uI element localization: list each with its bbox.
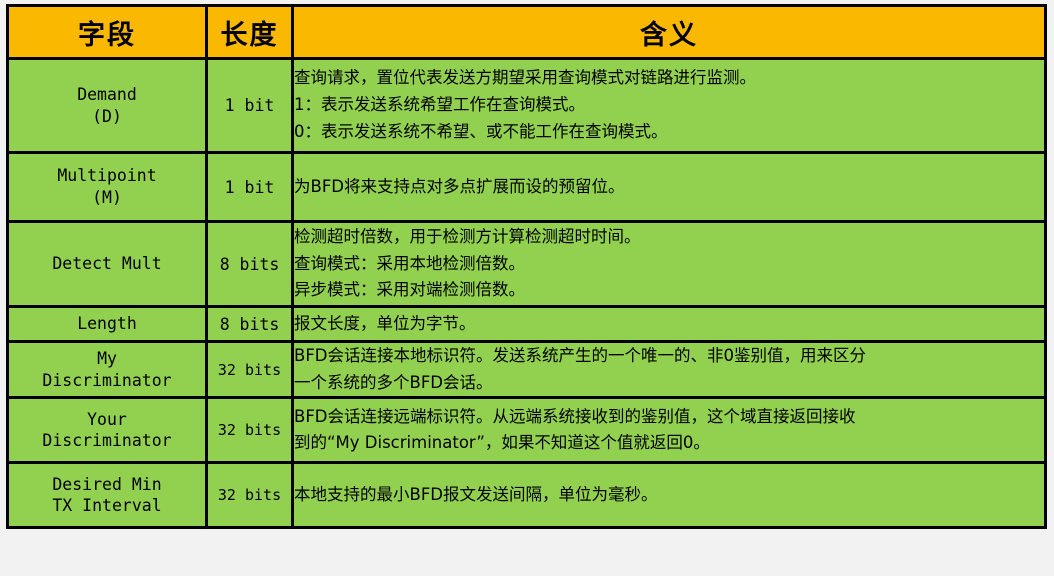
- field-length-cell: 32 bits: [207, 463, 293, 528]
- field-name-line-2: (D): [9, 106, 205, 128]
- field-name-line-1: Length: [9, 313, 205, 335]
- table-row: My Discriminator 32 bits BFD会话连接本地标识符。发送…: [8, 342, 1046, 398]
- field-name-cell: Detect Mult: [8, 222, 207, 307]
- meaning-line: BFD会话连接本地标识符。发送系统产生的一个唯一的、非0鉴别值，用来区分: [294, 343, 1044, 370]
- field-name-line-2: Discriminator: [9, 370, 205, 392]
- field-meaning-cell: 为BFD将来支持点对多点扩展而设的预留位。: [293, 153, 1046, 222]
- meaning-line: 查询模式：采用本地检测倍数。: [294, 251, 1044, 278]
- field-name-cell: Desired Min TX Interval: [8, 463, 207, 528]
- table-row: Multipoint (M) 1 bit 为BFD将来支持点对多点扩展而设的预留…: [8, 153, 1046, 222]
- bfd-field-table: 字段 长度 含义 Demand (D) 1 bit 查询请求，置位代表发送方期望…: [6, 4, 1047, 529]
- field-name-line-1: Detect Mult: [9, 253, 205, 275]
- field-name-line-1: Your: [9, 409, 205, 431]
- field-length-cell: 1 bit: [207, 153, 293, 222]
- field-length-cell: 8 bits: [207, 222, 293, 307]
- field-meaning-cell: 检测超时倍数，用于检测方计算检测超时时间。 查询模式：采用本地检测倍数。 异步模…: [293, 222, 1046, 307]
- meaning-line: 1：表示发送系统希望工作在查询模式。: [294, 92, 1044, 119]
- meaning-line: 为BFD将来支持点对多点扩展而设的预留位。: [294, 174, 1044, 201]
- field-name-cell: Your Discriminator: [8, 398, 207, 463]
- field-meaning-cell: BFD会话连接本地标识符。发送系统产生的一个唯一的、非0鉴别值，用来区分 一个系…: [293, 342, 1046, 398]
- meaning-line: 报文长度，单位为字节。: [294, 311, 1044, 338]
- field-meaning-cell: 查询请求，置位代表发送方期望采用查询模式对链路进行监测。 1：表示发送系统希望工…: [293, 59, 1046, 153]
- field-meaning-cell: 报文长度，单位为字节。: [293, 307, 1046, 342]
- field-length-cell: 8 bits: [207, 307, 293, 342]
- field-name-cell: Demand (D): [8, 59, 207, 153]
- bfd-field-table-container: 字段 长度 含义 Demand (D) 1 bit 查询请求，置位代表发送方期望…: [6, 4, 1044, 529]
- field-length-cell: 32 bits: [207, 398, 293, 463]
- field-meaning-cell: BFD会话连接远端标识符。从远端系统接收到的鉴别值，这个域直接返回接收 到的“M…: [293, 398, 1046, 463]
- table-row: Demand (D) 1 bit 查询请求，置位代表发送方期望采用查询模式对链路…: [8, 59, 1046, 153]
- field-name-cell: My Discriminator: [8, 342, 207, 398]
- field-name-cell: Multipoint (M): [8, 153, 207, 222]
- field-name-line-2: TX Interval: [9, 495, 205, 517]
- meaning-line: 本地支持的最小BFD报文发送间隔，单位为毫秒。: [294, 482, 1044, 509]
- field-name-line-1: Desired Min: [9, 474, 205, 496]
- field-name-line-2: (M): [9, 187, 205, 209]
- meaning-line: 0：表示发送系统不希望、或不能工作在查询模式。: [294, 119, 1044, 146]
- column-header-field: 字段: [8, 6, 207, 59]
- meaning-line: 异步模式：采用对端检测倍数。: [294, 277, 1044, 304]
- field-name-cell: Length: [8, 307, 207, 342]
- field-name-line-1: Demand: [9, 84, 205, 106]
- column-header-meaning: 含义: [293, 6, 1046, 59]
- meaning-line: 一个系统的多个BFD会话。: [294, 370, 1044, 397]
- field-length-cell: 32 bits: [207, 342, 293, 398]
- field-meaning-cell: 本地支持的最小BFD报文发送间隔，单位为毫秒。: [293, 463, 1046, 528]
- table-body: Demand (D) 1 bit 查询请求，置位代表发送方期望采用查询模式对链路…: [8, 59, 1046, 528]
- field-name-line-1: Multipoint: [9, 165, 205, 187]
- meaning-line: 到的“My Discriminator”，如果不知道这个值就返回0。: [294, 430, 1044, 457]
- table-header-row: 字段 长度 含义: [8, 6, 1046, 59]
- field-name-line-1: My: [9, 348, 205, 370]
- table-row: Length 8 bits 报文长度，单位为字节。: [8, 307, 1046, 342]
- field-name-line-2: Discriminator: [9, 430, 205, 452]
- table-row: Detect Mult 8 bits 检测超时倍数，用于检测方计算检测超时时间。…: [8, 222, 1046, 307]
- table-row: Desired Min TX Interval 32 bits 本地支持的最小B…: [8, 463, 1046, 528]
- meaning-line: BFD会话连接远端标识符。从远端系统接收到的鉴别值，这个域直接返回接收: [294, 404, 1044, 431]
- table-header: 字段 长度 含义: [8, 6, 1046, 59]
- meaning-line: 检测超时倍数，用于检测方计算检测超时时间。: [294, 224, 1044, 251]
- table-row: Your Discriminator 32 bits BFD会话连接远端标识符。…: [8, 398, 1046, 463]
- meaning-line: 查询请求，置位代表发送方期望采用查询模式对链路进行监测。: [294, 65, 1044, 92]
- column-header-length: 长度: [207, 6, 293, 59]
- field-length-cell: 1 bit: [207, 59, 293, 153]
